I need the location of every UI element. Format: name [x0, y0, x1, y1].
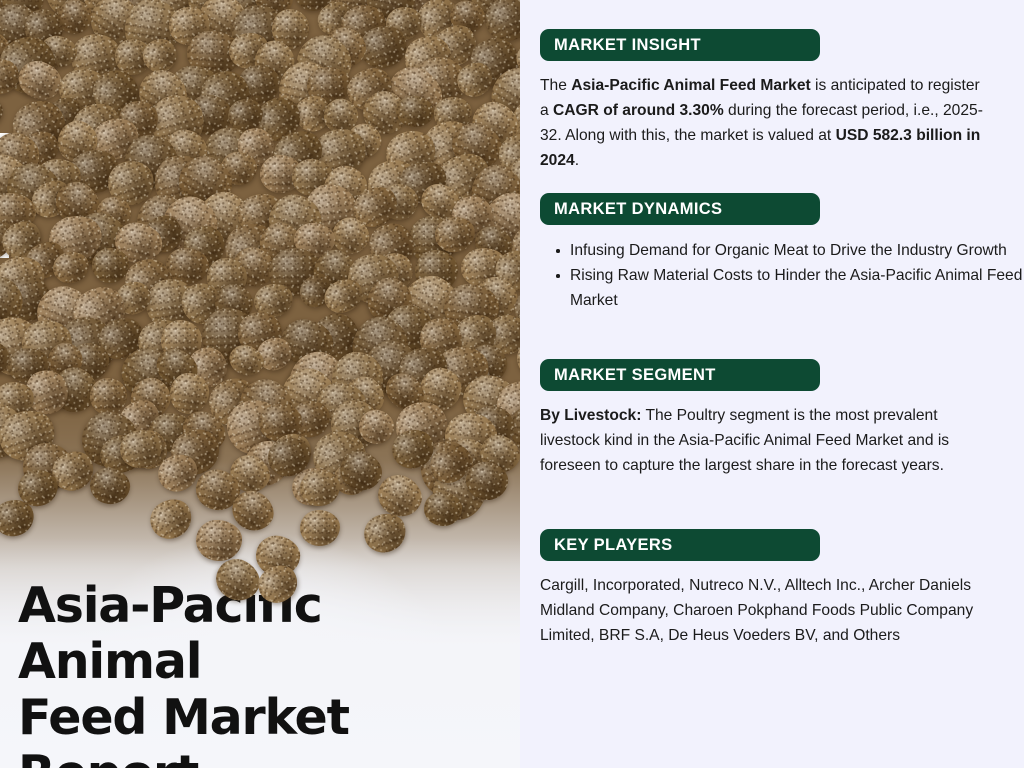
badge-market-segment: MARKET SEGMENT	[540, 359, 820, 391]
feed-pellet	[195, 519, 244, 563]
badge-key-players: KEY PLAYERS	[540, 529, 820, 561]
content-panel: MARKET INSIGHT The Asia-Pacific Animal F…	[520, 0, 1024, 768]
list-item: Infusing Demand for Organic Meat to Driv…	[570, 238, 1024, 263]
list-item: Rising Raw Material Costs to Hinder the …	[570, 263, 1024, 313]
section-market-segment: MARKET SEGMENT By Livestock: The Poultry…	[540, 359, 986, 478]
emphasis-text: USD 582.3 billion in 2024	[540, 127, 980, 169]
emphasis-text: Asia-Pacific Animal Feed Market	[571, 77, 810, 94]
hero-image-panel: Asia-Pacific Animal Feed Market Report a…	[0, 0, 520, 768]
emphasis-text: CAGR of around 3.30%	[553, 102, 724, 119]
market-insight-text: The Asia-Pacific Animal Feed Market is a…	[540, 73, 986, 173]
badge-market-dynamics: MARKET DYNAMICS	[540, 193, 820, 225]
feed-pellet	[143, 492, 199, 546]
emphasis-text: By Livestock:	[540, 407, 641, 424]
feed-pellet	[0, 95, 6, 131]
market-report-poster: Asia-Pacific Animal Feed Market Report a…	[0, 0, 1024, 768]
section-key-players: KEY PLAYERS Cargill, Incorporated, Nutre…	[540, 529, 986, 648]
page-title: Asia-Pacific Animal Feed Market Report a…	[18, 578, 518, 768]
badge-market-insight: MARKET INSIGHT	[540, 29, 820, 61]
market-segment-text: By Livestock: The Poultry segment is the…	[540, 403, 986, 478]
feed-pellet	[300, 510, 341, 547]
section-market-dynamics: MARKET DYNAMICS Infusing Demand for Orga…	[540, 193, 1024, 313]
key-players-text: Cargill, Incorporated, Nutreco N.V., All…	[540, 573, 986, 648]
feed-pellet	[91, 247, 130, 283]
section-market-insight: MARKET INSIGHT The Asia-Pacific Animal F…	[540, 29, 986, 173]
market-dynamics-list: Infusing Demand for Organic Meat to Driv…	[540, 238, 1024, 313]
